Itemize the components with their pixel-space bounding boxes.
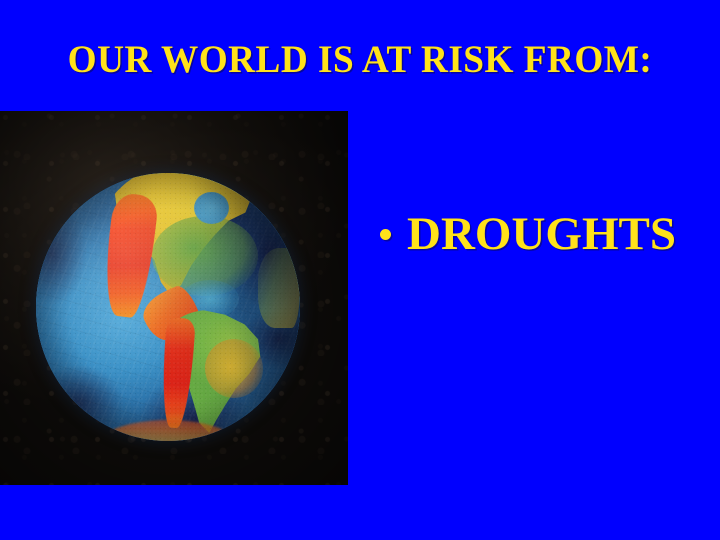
photo-vignette <box>0 111 348 485</box>
globe-photo-panel <box>0 111 348 485</box>
bullet-item-droughts: DROUGHTS <box>380 206 676 262</box>
bullet-marker-icon <box>380 229 391 240</box>
page-title: OUR WORLD IS AT RISK FROM: <box>16 38 704 82</box>
bullet-item-label: DROUGHTS <box>407 206 676 262</box>
slide-canvas: OUR WORLD IS AT RISK FROM: <box>0 0 720 540</box>
